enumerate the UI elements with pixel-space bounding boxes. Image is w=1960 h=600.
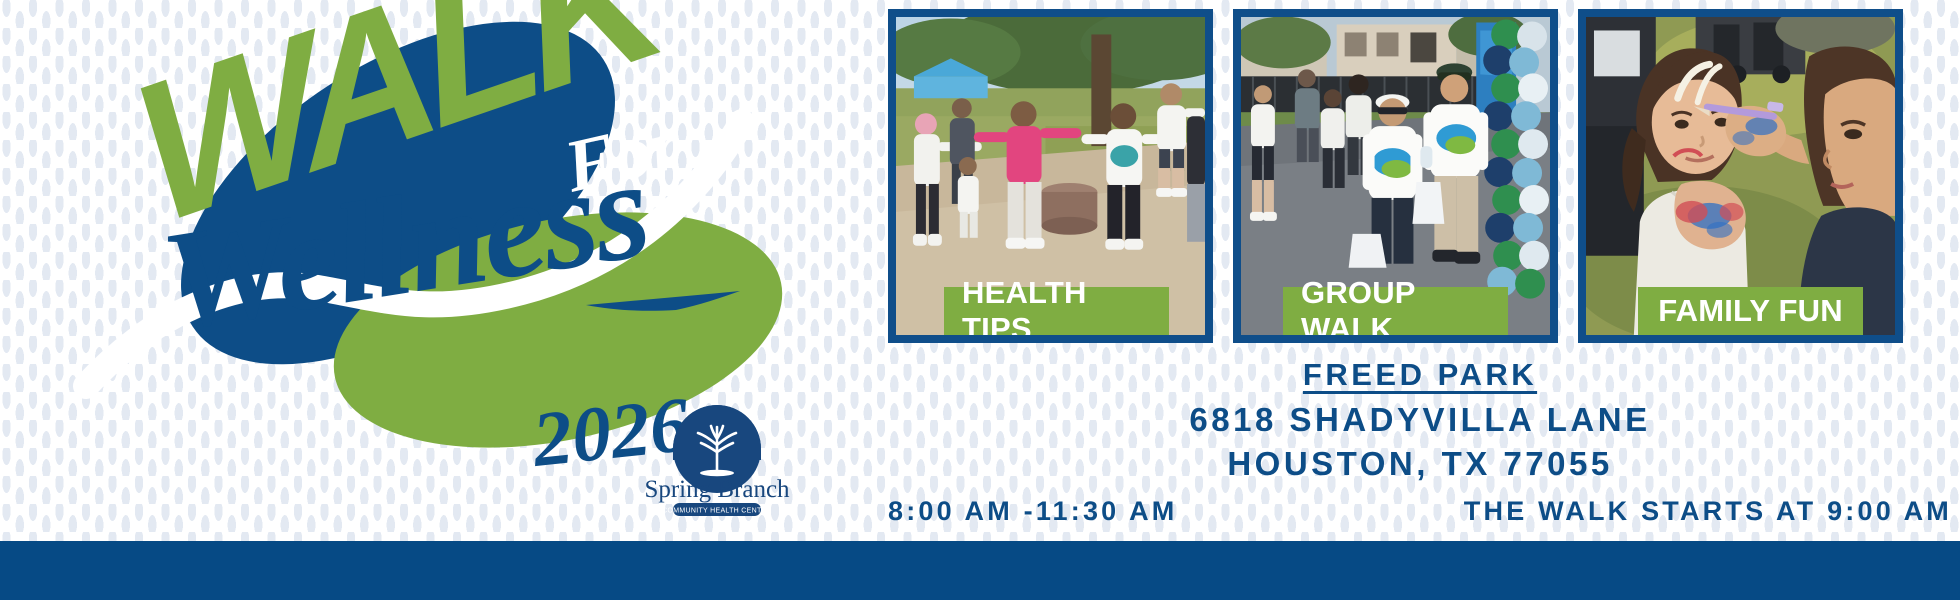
spring-branch-name: Spring Branch	[644, 476, 790, 503]
svg-text:2026: 2026	[528, 380, 693, 483]
street-address: 6818 SHADYVILLA LANE	[880, 402, 1960, 439]
event-times-row: 8:00 AM -11:30 AM THE WALK STARTS AT 9:0…	[880, 496, 1960, 527]
walk-for-wellness-banner: WALK For Wellness 2026	[0, 0, 1960, 600]
city-state-zip: HOUSTON, TX 77055	[880, 446, 1960, 483]
spring-branch-tagline: COMMUNITY HEALTH CENTER	[662, 508, 772, 515]
walk-for-wellness-logo: WALK For Wellness 2026	[0, 0, 860, 545]
event-info-block: FREED PARK 6818 SHADYVILLA LANE HOUSTON,…	[880, 358, 1960, 527]
photo-card-family-fun[interactable]: FAMILY FUN	[1578, 9, 1903, 343]
walk-start-note: THE WALK STARTS AT 9:00 AM	[1464, 496, 1952, 527]
photo-card-health-tips[interactable]: HEALTH TIPS	[888, 9, 1213, 343]
photo-label-group-walk: GROUP WALK	[1283, 287, 1508, 335]
year-2026: 2026	[528, 380, 693, 483]
event-hours: 8:00 AM -11:30 AM	[888, 496, 1177, 527]
photo-label-family-fun: FAMILY FUN	[1638, 287, 1863, 335]
photo-label-health-tips: HEALTH TIPS	[944, 287, 1169, 335]
venue-name: FREED PARK	[880, 358, 1960, 393]
photo-card-group-walk[interactable]: GROUP WALK	[1233, 9, 1558, 343]
bottom-accent-bar	[0, 541, 1960, 600]
